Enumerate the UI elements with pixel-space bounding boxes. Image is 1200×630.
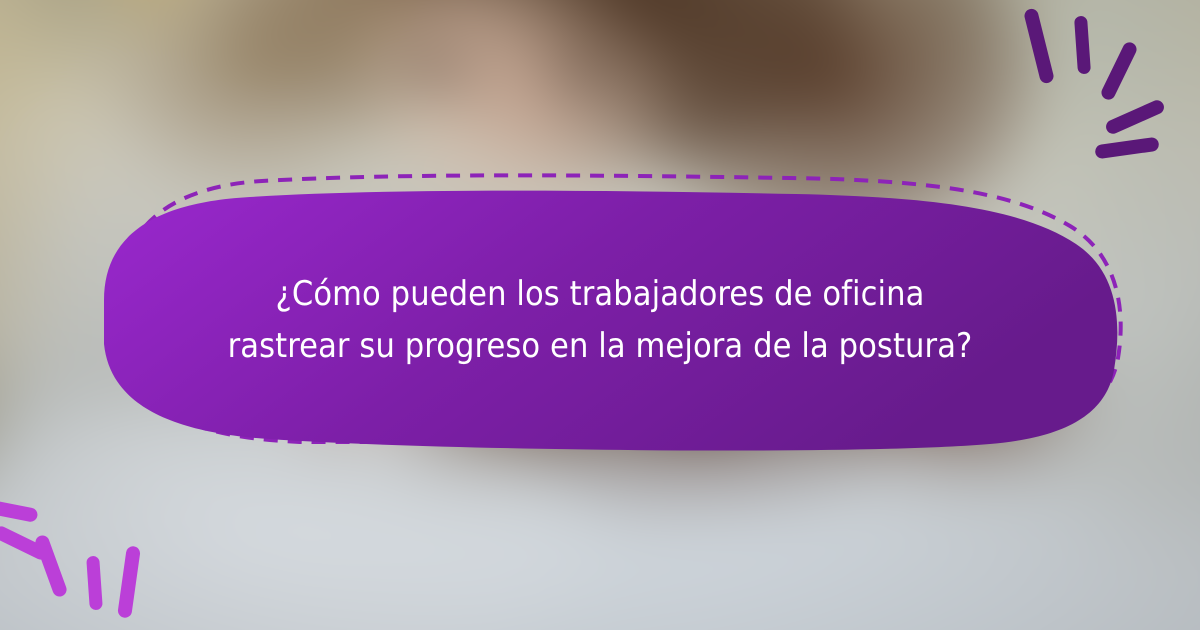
quote-card: ¿Cómo pueden los trabajadores de oficina…	[0, 0, 1200, 630]
headline-text: ¿Cómo pueden los trabajadores de oficina…	[150, 268, 1050, 372]
